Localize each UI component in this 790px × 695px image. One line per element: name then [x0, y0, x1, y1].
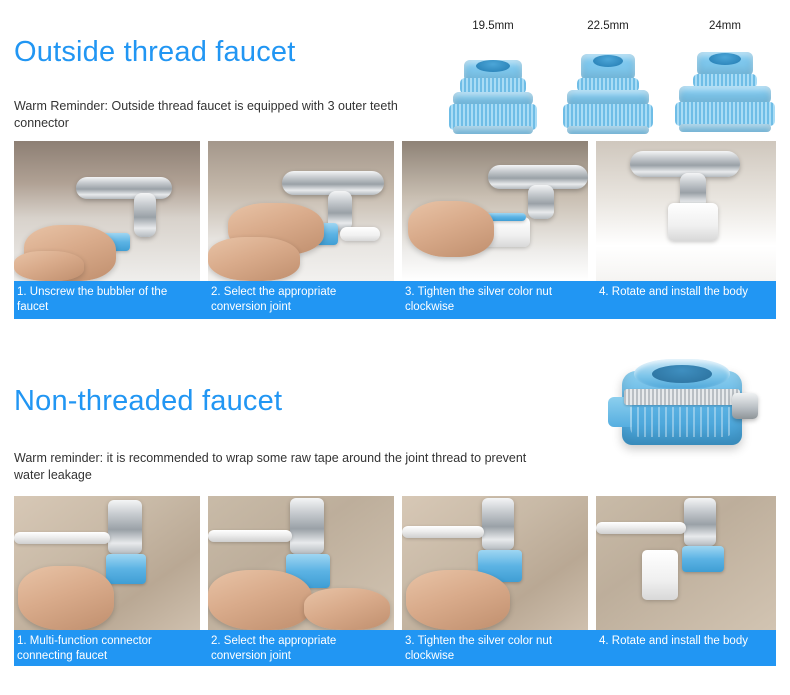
warm-reminder-outside-thread: Warm Reminder: Outside thread faucet is … [14, 98, 444, 132]
swatch-19-5mm: 19.5mm [443, 40, 543, 134]
caption-step-4-non-threaded: 4. Rotate and install the body [599, 634, 775, 649]
photo-step-4-non-threaded [596, 496, 776, 630]
hero-product-image [600, 345, 780, 465]
caption-step-1-non-threaded: 1. Multi-function connector connecting f… [17, 634, 203, 664]
section-title-non-threaded-faucet: Non-threaded faucet [14, 385, 282, 418]
connector-22-5mm-icon [560, 52, 656, 134]
caption-step-3-non-threaded: 3. Tighten the silver color nut clockwis… [405, 634, 591, 664]
photo-step-2-outside [208, 141, 394, 281]
connector-19-5mm-icon [445, 56, 541, 134]
photo-step-3-outside [402, 141, 588, 281]
swatch-22-5mm: 22.5mm [558, 40, 658, 134]
warm-reminder-non-threaded: Warm reminder: it is recommended to wrap… [14, 450, 559, 484]
swatch-24mm: 24mm [675, 40, 775, 134]
product-instruction-page: Outside thread faucet Warm Reminder: Out… [0, 0, 790, 695]
caption-step-3-outside: 3. Tighten the silver color nut clockwis… [405, 285, 591, 315]
swatch-label-24mm: 24mm [675, 20, 775, 32]
caption-step-1-outside: 1. Unscrew the bubbler of the faucet [17, 285, 203, 315]
connector-size-swatches: 19.5mm 22.5mm 24mm [443, 18, 783, 134]
photo-strip-outside-thread [14, 141, 776, 281]
photo-strip-non-threaded [14, 496, 776, 630]
caption-step-2-outside: 2. Select the appropriate conversion joi… [211, 285, 397, 315]
section-title-outside-thread-faucet: Outside thread faucet [14, 36, 295, 69]
swatch-label-19-5mm: 19.5mm [443, 20, 543, 32]
caption-step-2-non-threaded: 2. Select the appropriate conversion joi… [211, 634, 397, 664]
caption-step-4-outside: 4. Rotate and install the body [599, 285, 775, 300]
caption-bar-outside-thread: 1. Unscrew the bubbler of the faucet 2. … [14, 281, 776, 319]
swatch-label-22-5mm: 22.5mm [558, 20, 658, 32]
photo-step-3-non-threaded [402, 496, 588, 630]
photo-step-1-outside [14, 141, 200, 281]
photo-step-2-non-threaded [208, 496, 394, 630]
photo-step-4-outside [596, 141, 776, 281]
connector-24mm-icon [672, 50, 778, 134]
photo-step-1-non-threaded [14, 496, 200, 630]
caption-bar-non-threaded: 1. Multi-function connector connecting f… [14, 630, 776, 666]
